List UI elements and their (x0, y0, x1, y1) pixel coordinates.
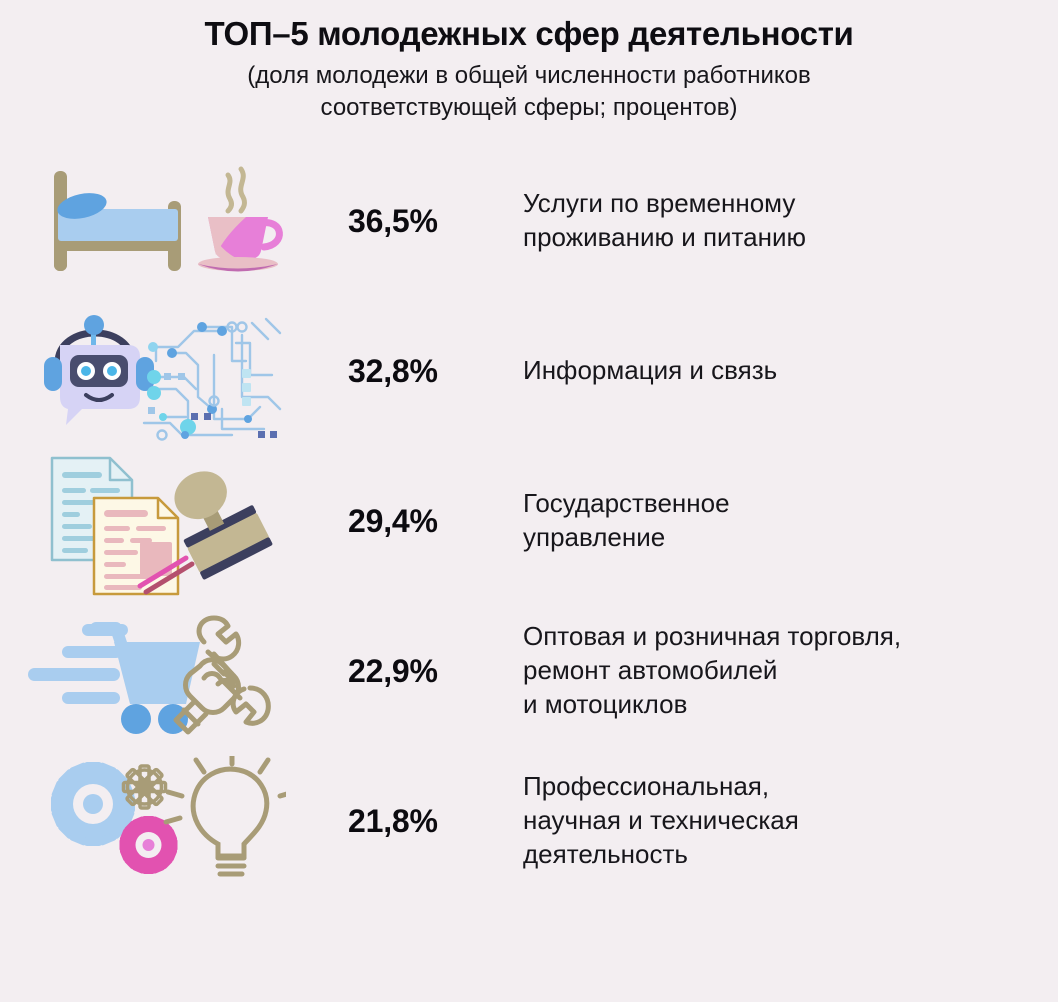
percentage-value: 22,9% (348, 653, 523, 690)
sector-label: Государственное управление (523, 487, 1058, 555)
label-line: Государственное (523, 487, 1044, 521)
label-line: управление (523, 521, 1044, 555)
percentage-value: 36,5% (348, 203, 523, 240)
sector-label: Профессиональная, научная и техническая … (523, 770, 1058, 871)
page-subtitle: (доля молодежи в общей численности работ… (159, 60, 899, 124)
header: ТОП–5 молодежных сфер деятельности (доля… (0, 0, 1058, 124)
label-line: научная и техническая (523, 804, 1044, 838)
sector-label: Оптовая и розничная торговля, ремонт авт… (523, 620, 1058, 721)
gears-lightbulb-icon (36, 756, 286, 886)
infographic-page: ТОП–5 молодежных сфер деятельности (доля… (0, 0, 1058, 1002)
subtitle-line-2: соответствующей сферы; процентов) (159, 92, 899, 124)
label-line: Информация и связь (523, 354, 1044, 388)
subtitle-line-1: (доля молодежи в общей численности работ… (159, 60, 899, 92)
icon-cell (18, 451, 348, 591)
label-line: Услуги по временному (523, 187, 1044, 221)
percentage-value: 21,8% (348, 803, 523, 840)
list-item: 29,4% Государственное управление (0, 446, 1058, 596)
icon-cell (18, 301, 348, 441)
ranking-list: 36,5% Услуги по временному проживанию и … (0, 146, 1058, 896)
bed-and-coffee-icon (36, 161, 296, 281)
chatbot-circuit-icon (36, 301, 296, 441)
label-line: Профессиональная, (523, 770, 1044, 804)
list-item: 22,9% Оптовая и розничная торговля, ремо… (0, 596, 1058, 746)
label-line: проживанию и питанию (523, 221, 1044, 255)
sector-label: Услуги по временному проживанию и питани… (523, 187, 1058, 255)
label-line: Оптовая и розничная торговля, (523, 620, 1044, 654)
label-line: и мотоциклов (523, 688, 1044, 722)
percentage-value: 29,4% (348, 503, 523, 540)
list-item: 32,8% Информация и связь (0, 296, 1058, 446)
icon-cell (18, 751, 348, 891)
list-item: 36,5% Услуги по временному проживанию и … (0, 146, 1058, 296)
label-line: ремонт автомобилей (523, 654, 1044, 688)
list-item: 21,8% Профессиональная, научная и технич… (0, 746, 1058, 896)
page-title: ТОП–5 молодежных сфер деятельности (0, 14, 1058, 54)
icon-cell (18, 151, 348, 291)
icon-cell (18, 601, 348, 741)
shopping-cart-wrench-icon (18, 606, 288, 736)
sector-label: Информация и связь (523, 354, 1058, 388)
label-line: деятельность (523, 838, 1044, 872)
documents-and-stamp-icon (36, 446, 286, 596)
percentage-value: 32,8% (348, 353, 523, 390)
